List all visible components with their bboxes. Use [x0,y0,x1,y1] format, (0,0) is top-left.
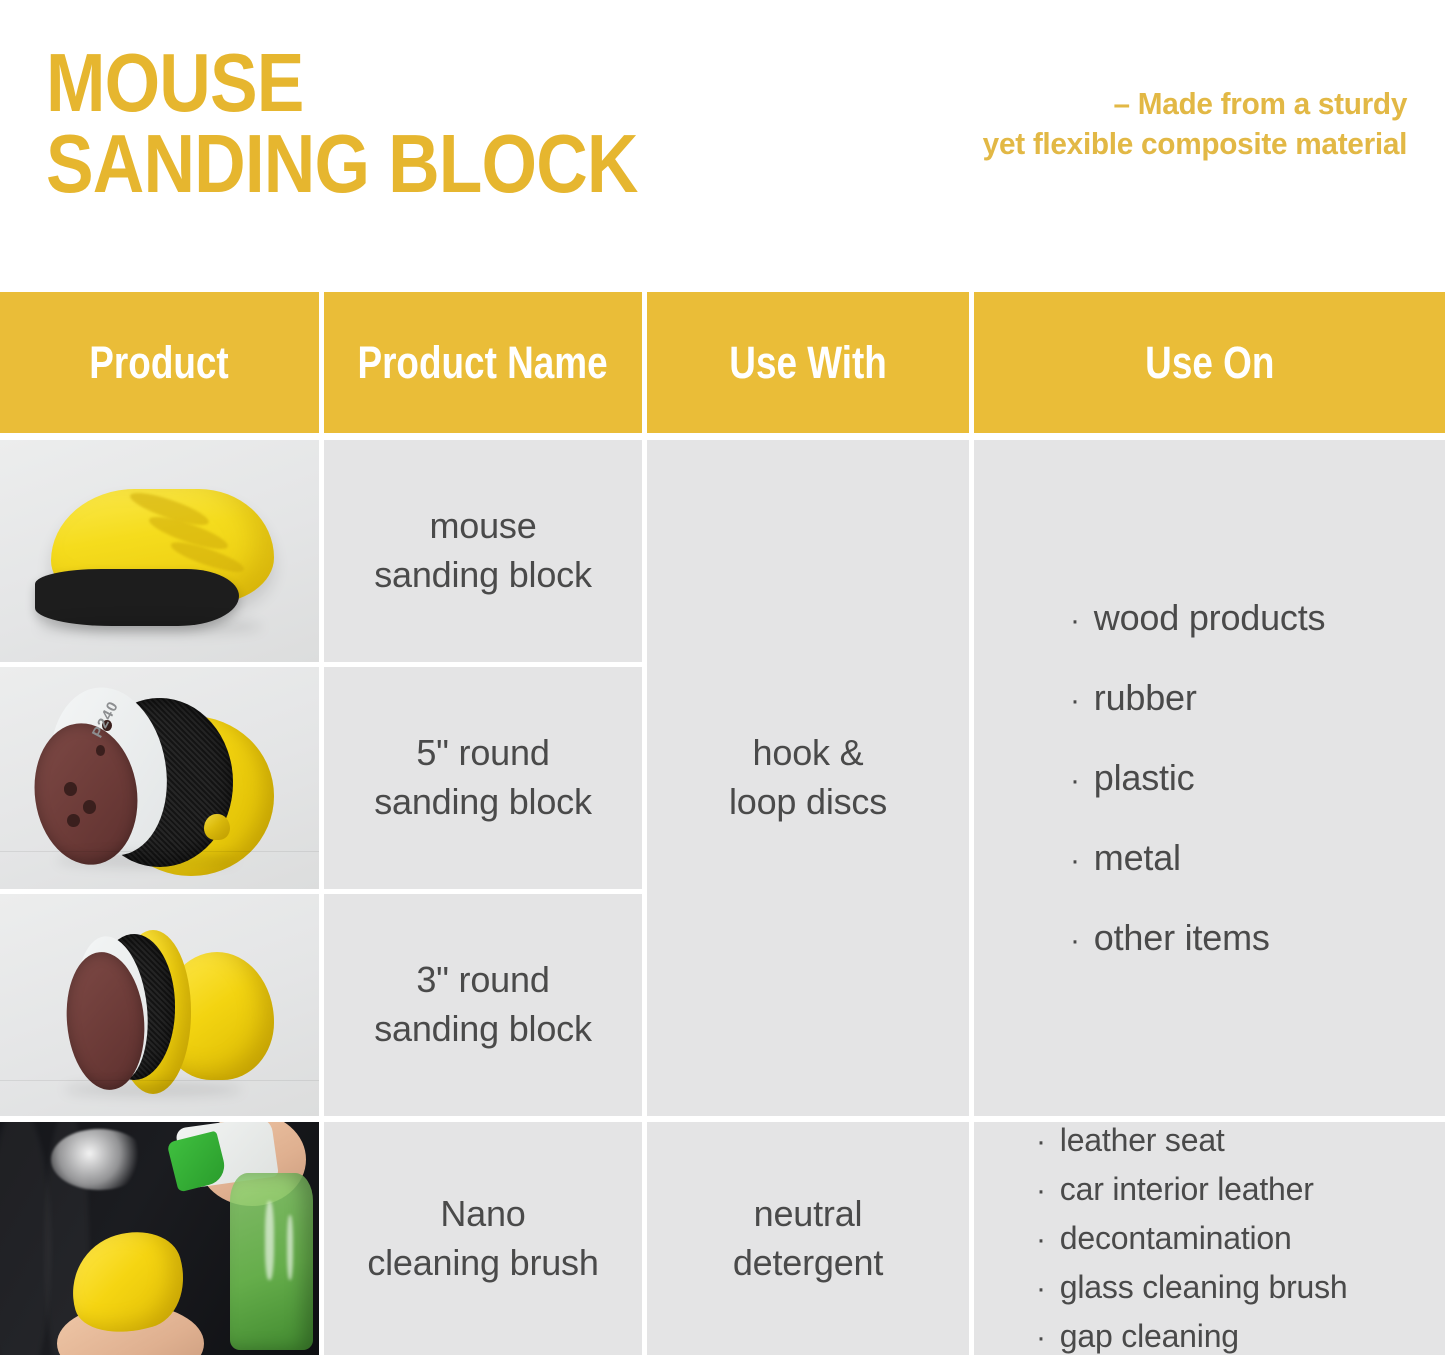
bullet-icon: · [1070,686,1080,716]
table-row [0,894,319,1116]
product-name-cell-nano: Nano cleaning brush [324,1122,642,1355]
use-on-nano-item-1: car interior leather [1060,1173,1314,1205]
page-title: MOUSE SANDING BLOCK [46,42,734,205]
table-row [0,1122,319,1355]
bullet-icon: · [1070,926,1080,956]
bullet-icon: · [1070,766,1080,796]
product-name-text-nano: Nano cleaning brush [367,1190,598,1287]
table-header-product: Product [0,292,319,433]
list-item: · car interior leather [1036,1173,1445,1206]
use-on-nano-item-0: leather seat [1060,1124,1225,1156]
product-name-nano-line-2: cleaning brush [367,1239,598,1288]
product-name-5-inch-line-1: 5" round [374,729,592,778]
use-on-sanding-item-1: rubber [1094,680,1197,716]
five-inch-round-sanding-block-photo: P240 [0,667,319,889]
bullet-icon: · [1036,1323,1046,1353]
use-with-text-nano: neutral detergent [733,1190,883,1287]
use-on-sanding-item-3: metal [1094,840,1181,876]
product-name-cell-3-inch: 3" round sanding block [324,894,642,1116]
table-header-product-name: Product Name [324,292,642,433]
use-on-cell-nano: · leather seat · car interior leather · … [974,1122,1445,1355]
use-on-nano-item-4: gap cleaning [1060,1320,1239,1352]
bullet-icon: · [1036,1176,1046,1206]
product-name-text-5-inch: 5" round sanding block [374,729,592,826]
list-item: · plastic [1070,760,1445,796]
use-on-cell-sanding: · wood products · rubber · plastic · met… [974,440,1445,1116]
use-on-sanding-item-2: plastic [1094,760,1195,796]
list-item: · other items [1070,920,1445,956]
use-with-sanding-line-1: hook & [729,729,887,778]
product-name-3-inch-line-1: 3" round [374,956,592,1005]
mouse-sanding-block-photo [0,440,319,662]
table-header-use-with-label: Use With [729,337,887,389]
table-header-use-with: Use With [647,292,969,433]
product-name-mouse-line-1: mouse [374,502,592,551]
use-on-sanding-item-4: other items [1094,920,1270,956]
list-item: · metal [1070,840,1445,876]
header-tagline-line-1: – Made from a sturdy [983,84,1407,124]
product-name-mouse-line-2: sanding block [374,551,592,600]
page-title-line-1: MOUSE [46,42,638,123]
bullet-icon: · [1036,1127,1046,1157]
three-inch-round-sanding-block-photo [0,894,319,1116]
product-comparison-table: Product Product Name Use With Use On mou… [0,292,1445,1355]
use-with-text-sanding: hook & loop discs [729,729,887,826]
header-banner: MOUSE SANDING BLOCK – Made from a sturdy… [0,0,1445,292]
list-item: · rubber [1070,680,1445,716]
use-on-nano-item-3: glass cleaning brush [1060,1271,1348,1303]
use-with-cell-sanding: hook & loop discs [647,440,969,1116]
table-row [0,440,319,662]
product-name-cell-5-inch: 5" round sanding block [324,667,642,889]
bullet-icon: · [1036,1274,1046,1304]
bullet-icon: · [1070,606,1080,636]
page-title-line-2: SANDING BLOCK [46,123,638,204]
table-header-product-label: Product [90,337,229,389]
use-on-sanding-item-0: wood products [1094,600,1326,636]
header-tagline-line-2: yet flexible composite material [983,124,1407,164]
product-name-text-3-inch: 3" round sanding block [374,956,592,1053]
list-item: · gap cleaning [1036,1320,1445,1353]
product-name-text-mouse: mouse sanding block [374,502,592,599]
table-header-product-name-label: Product Name [358,337,608,389]
list-item: · glass cleaning brush [1036,1271,1445,1304]
nano-cleaning-brush-photo [0,1122,319,1355]
list-item: · decontamination [1036,1222,1445,1255]
list-item: · leather seat [1036,1124,1445,1157]
use-with-nano-line-2: detergent [733,1239,883,1288]
table-row: P240 [0,667,319,889]
use-with-cell-nano: neutral detergent [647,1122,969,1355]
use-on-nano-item-2: decontamination [1060,1222,1292,1254]
product-name-nano-line-1: Nano [367,1190,598,1239]
use-with-nano-line-1: neutral [733,1190,883,1239]
table-header-use-on-label: Use On [1145,337,1274,389]
header-tagline: – Made from a sturdy yet flexible compos… [983,84,1407,163]
product-name-cell-mouse: mouse sanding block [324,440,642,662]
product-name-3-inch-line-2: sanding block [374,1005,592,1054]
list-item: · wood products [1070,600,1445,636]
use-with-sanding-line-2: loop discs [729,778,887,827]
product-name-5-inch-line-2: sanding block [374,778,592,827]
bullet-icon: · [1070,846,1080,876]
bullet-icon: · [1036,1225,1046,1255]
table-header-use-on: Use On [974,292,1445,433]
